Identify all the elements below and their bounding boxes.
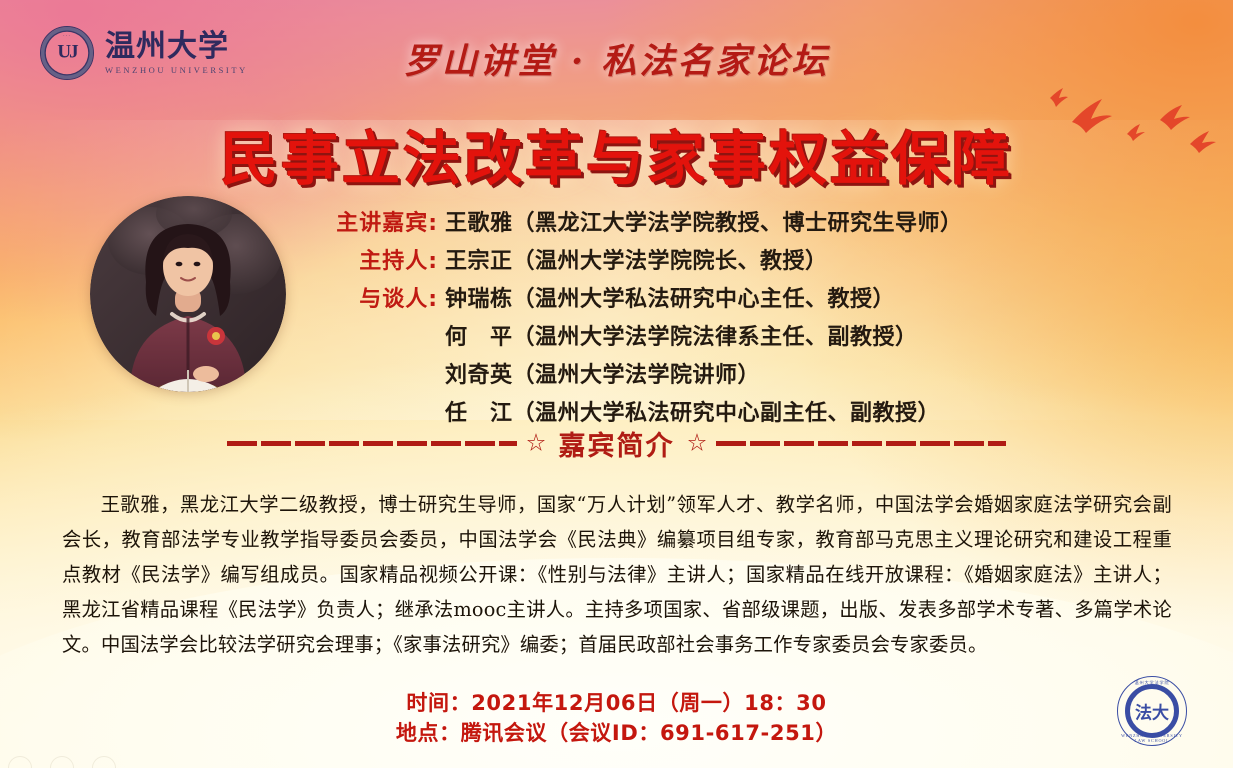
watermark-circle: [8, 756, 32, 768]
divider-line-right: [716, 441, 1006, 446]
speaker-name-affiliation: 王宗正（温州大学法学院院长、教授）: [445, 243, 828, 275]
speaker-role-label: 与谈人:: [310, 281, 438, 313]
speaker-list: 主讲嘉宾: 王歌雅（黑龙江大学法学院教授、博士研究生导师） 主持人: 王宗正（温…: [310, 205, 1010, 433]
watermark-circle: [92, 756, 116, 768]
watermark-circles: [8, 756, 116, 768]
speaker-role-label: 主持人:: [310, 243, 438, 275]
speaker-portrait-photo: [90, 196, 286, 392]
star-icon: ☆: [517, 434, 554, 453]
law-seal-glyph: 法大: [1135, 699, 1169, 724]
event-time: 时间：2021年12月06日（周一）18：30: [0, 688, 1233, 718]
speaker-row: 刘奇英（温州大学法学院讲师）: [310, 357, 1010, 391]
speaker-name-affiliation: 何 平（温州大学法学院法律系主任、副教授）: [445, 319, 918, 351]
speaker-name-affiliation: 任 江（温州大学私法研究中心副主任、副教授）: [445, 395, 940, 427]
speaker-row: 与谈人: 钟瑞栋（温州大学私法研究中心主任、教授）: [310, 281, 1010, 315]
law-seal-arc-bottom: WENZHOU UNIVERSITY LAW SCHOOL: [1118, 733, 1186, 743]
speaker-row: 主讲嘉宾: 王歌雅（黑龙江大学法学院教授、博士研究生导师）: [310, 205, 1010, 239]
speaker-name-affiliation: 钟瑞栋（温州大学私法研究中心主任、教授）: [445, 281, 895, 313]
speaker-name-affiliation: 王歌雅（黑龙江大学法学院教授、博士研究生导师）: [445, 205, 963, 237]
watermark-circle: [50, 756, 74, 768]
speaker-row: 何 平（温州大学法学院法律系主任、副教授）: [310, 319, 1010, 353]
event-location: 地点：腾讯会议（会议ID：691-617-251）: [0, 718, 1233, 748]
speaker-row: 主持人: 王宗正（温州大学法学院院长、教授）: [310, 243, 1010, 277]
poster-canvas: ··· UJ 温州大学 WENZHOU UNIVERSITY 罗山讲堂 · 私法…: [0, 0, 1233, 768]
portrait-illustration: [90, 196, 286, 392]
section-divider: ☆ 嘉宾简介 ☆: [0, 424, 1233, 463]
speaker-biography: 王歌雅，黑龙江大学二级教授，博士研究生导师，国家“万人计划”领军人才、教学名师，…: [62, 487, 1172, 662]
page-title: 民事立法改革与家事权益保障: [0, 112, 1233, 196]
section-title: 嘉宾简介: [555, 424, 679, 463]
speaker-role-label: 主讲嘉宾:: [310, 205, 438, 237]
star-icon: ☆: [679, 434, 716, 453]
speaker-name-affiliation: 刘奇英（温州大学法学院讲师）: [445, 357, 760, 389]
forum-subtitle: 罗山讲堂 · 私法名家论坛: [0, 33, 1233, 84]
law-school-seal-icon: 温州大学法学院 法大 WENZHOU UNIVERSITY LAW SCHOOL: [1117, 676, 1187, 746]
divider-line-left: [227, 441, 517, 446]
event-meta: 时间：2021年12月06日（周一）18：30 地点：腾讯会议（会议ID：691…: [0, 688, 1233, 748]
